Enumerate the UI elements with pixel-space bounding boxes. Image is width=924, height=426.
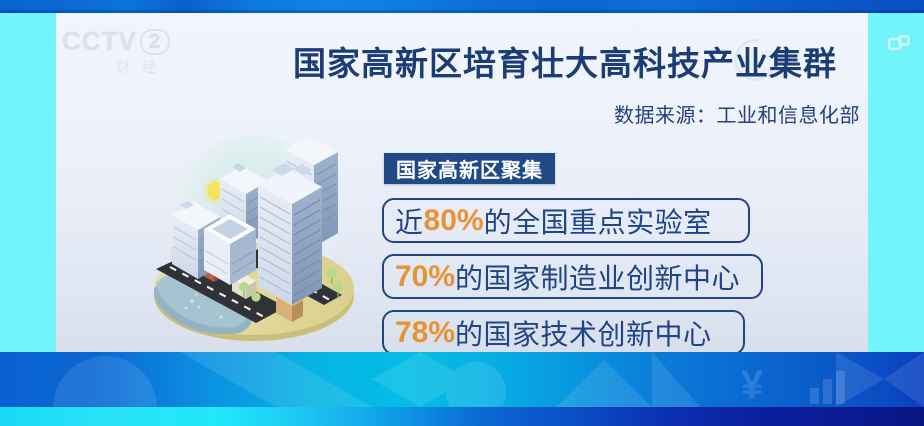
- cctv-logo-channel-number: 2: [140, 29, 171, 55]
- stat-suffix: 的全国重点实验室: [484, 201, 712, 241]
- cctv-logo-letters: CCTV: [62, 26, 137, 56]
- yen-icon: ¥: [741, 363, 764, 407]
- cctv-logo-subtitle: 财经: [62, 57, 212, 77]
- stat-item-technology-innovation-centers: 78% 的国家技术创新中心: [382, 310, 745, 352]
- status-badge: 国家高新区聚集: [384, 153, 555, 184]
- cctv-2-finance-logo: CCTV2 财经: [62, 26, 212, 88]
- left-cyan-strip: [0, 13, 56, 352]
- content-panel: CCTV2 财经 央视网 com 国家高新区培育壮大高科技产业集群 数据来源：工…: [56, 13, 868, 352]
- stat-value: 80%: [424, 204, 484, 238]
- stat-value: 78%: [395, 316, 455, 350]
- top-blue-strip: [0, 0, 924, 13]
- stat-suffix: 的国家制造业创新中心: [455, 257, 740, 297]
- stat-suffix: 的国家技术创新中心: [455, 313, 712, 353]
- broadcast-graphic: CCTV2 财经 央视网 com 国家高新区培育壮大高科技产业集群 数据来源：工…: [0, 0, 924, 426]
- stat-value: 70%: [395, 260, 455, 294]
- cctv-logo-wordmark: CCTV2: [62, 26, 212, 56]
- stat-item-national-key-labs: 近 80% 的全国重点实验室: [382, 198, 750, 243]
- page-title: 国家高新区培育壮大高科技产业集群: [270, 37, 860, 85]
- right-cyan-strip: [868, 13, 924, 352]
- bar-chart-icon: [810, 371, 845, 404]
- stat-item-manufacturing-innovation-centers: 70% 的国家制造业创新中心: [382, 254, 763, 299]
- window-overlap-icon[interactable]: [888, 35, 910, 54]
- isometric-city-illustration: [136, 117, 376, 352]
- bottom-decorative-banner: ¥: [0, 352, 924, 426]
- building-center-short: [204, 214, 256, 285]
- stat-prefix: 近: [395, 201, 424, 241]
- banner-bottom-band: [0, 407, 924, 426]
- building-front-tall: [258, 163, 322, 305]
